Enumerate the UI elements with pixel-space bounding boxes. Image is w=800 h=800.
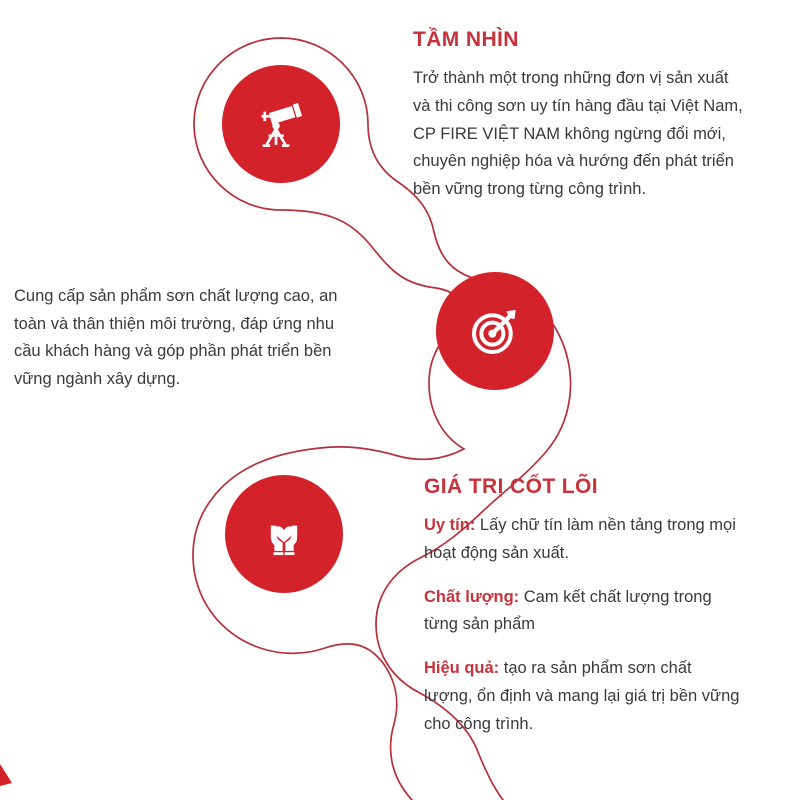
core-value-label: Chất lượng: [424,588,519,606]
core-value-label: Hiệu quả: [424,659,499,677]
target-arrow-icon [467,303,523,359]
mission-text-block: Cung cấp sản phẩm sơn chất lượng cao, an… [14,283,362,394]
vision-body: Trở thành một trong những đơn vị sản xuấ… [413,65,743,204]
core-values-text-block: GIÁ TRỊ CỐT LÕI Uy tín: Lấy chữ tín làm … [424,474,744,738]
node-circle-core-values [225,475,343,593]
core-value-item: Hiệu quả: tạo ra sản phẩm sơn chất lượng… [424,655,744,738]
node-circle-mission [436,272,554,390]
mission-body: Cung cấp sản phẩm sơn chất lượng cao, an… [14,283,362,394]
vision-heading: TẦM NHÌN [413,27,743,52]
node-circle-vision [222,65,340,183]
infographic-page: TẦM NHÌN Trở thành một trong những đơn v… [0,0,800,800]
hands-heart-icon [257,507,311,561]
core-value-item: Chất lượng: Cam kết chất lượng trong từn… [424,584,744,639]
core-value-item: Uy tín: Lấy chữ tín làm nền tảng trong m… [424,512,744,567]
core-values-heading: GIÁ TRỊ CỐT LÕI [424,474,744,499]
core-value-label: Uy tín: [424,516,475,534]
corner-triangle-mark [0,764,13,786]
vision-text-block: TẦM NHÌN Trở thành một trong những đơn v… [413,27,743,204]
telescope-icon [252,95,310,153]
